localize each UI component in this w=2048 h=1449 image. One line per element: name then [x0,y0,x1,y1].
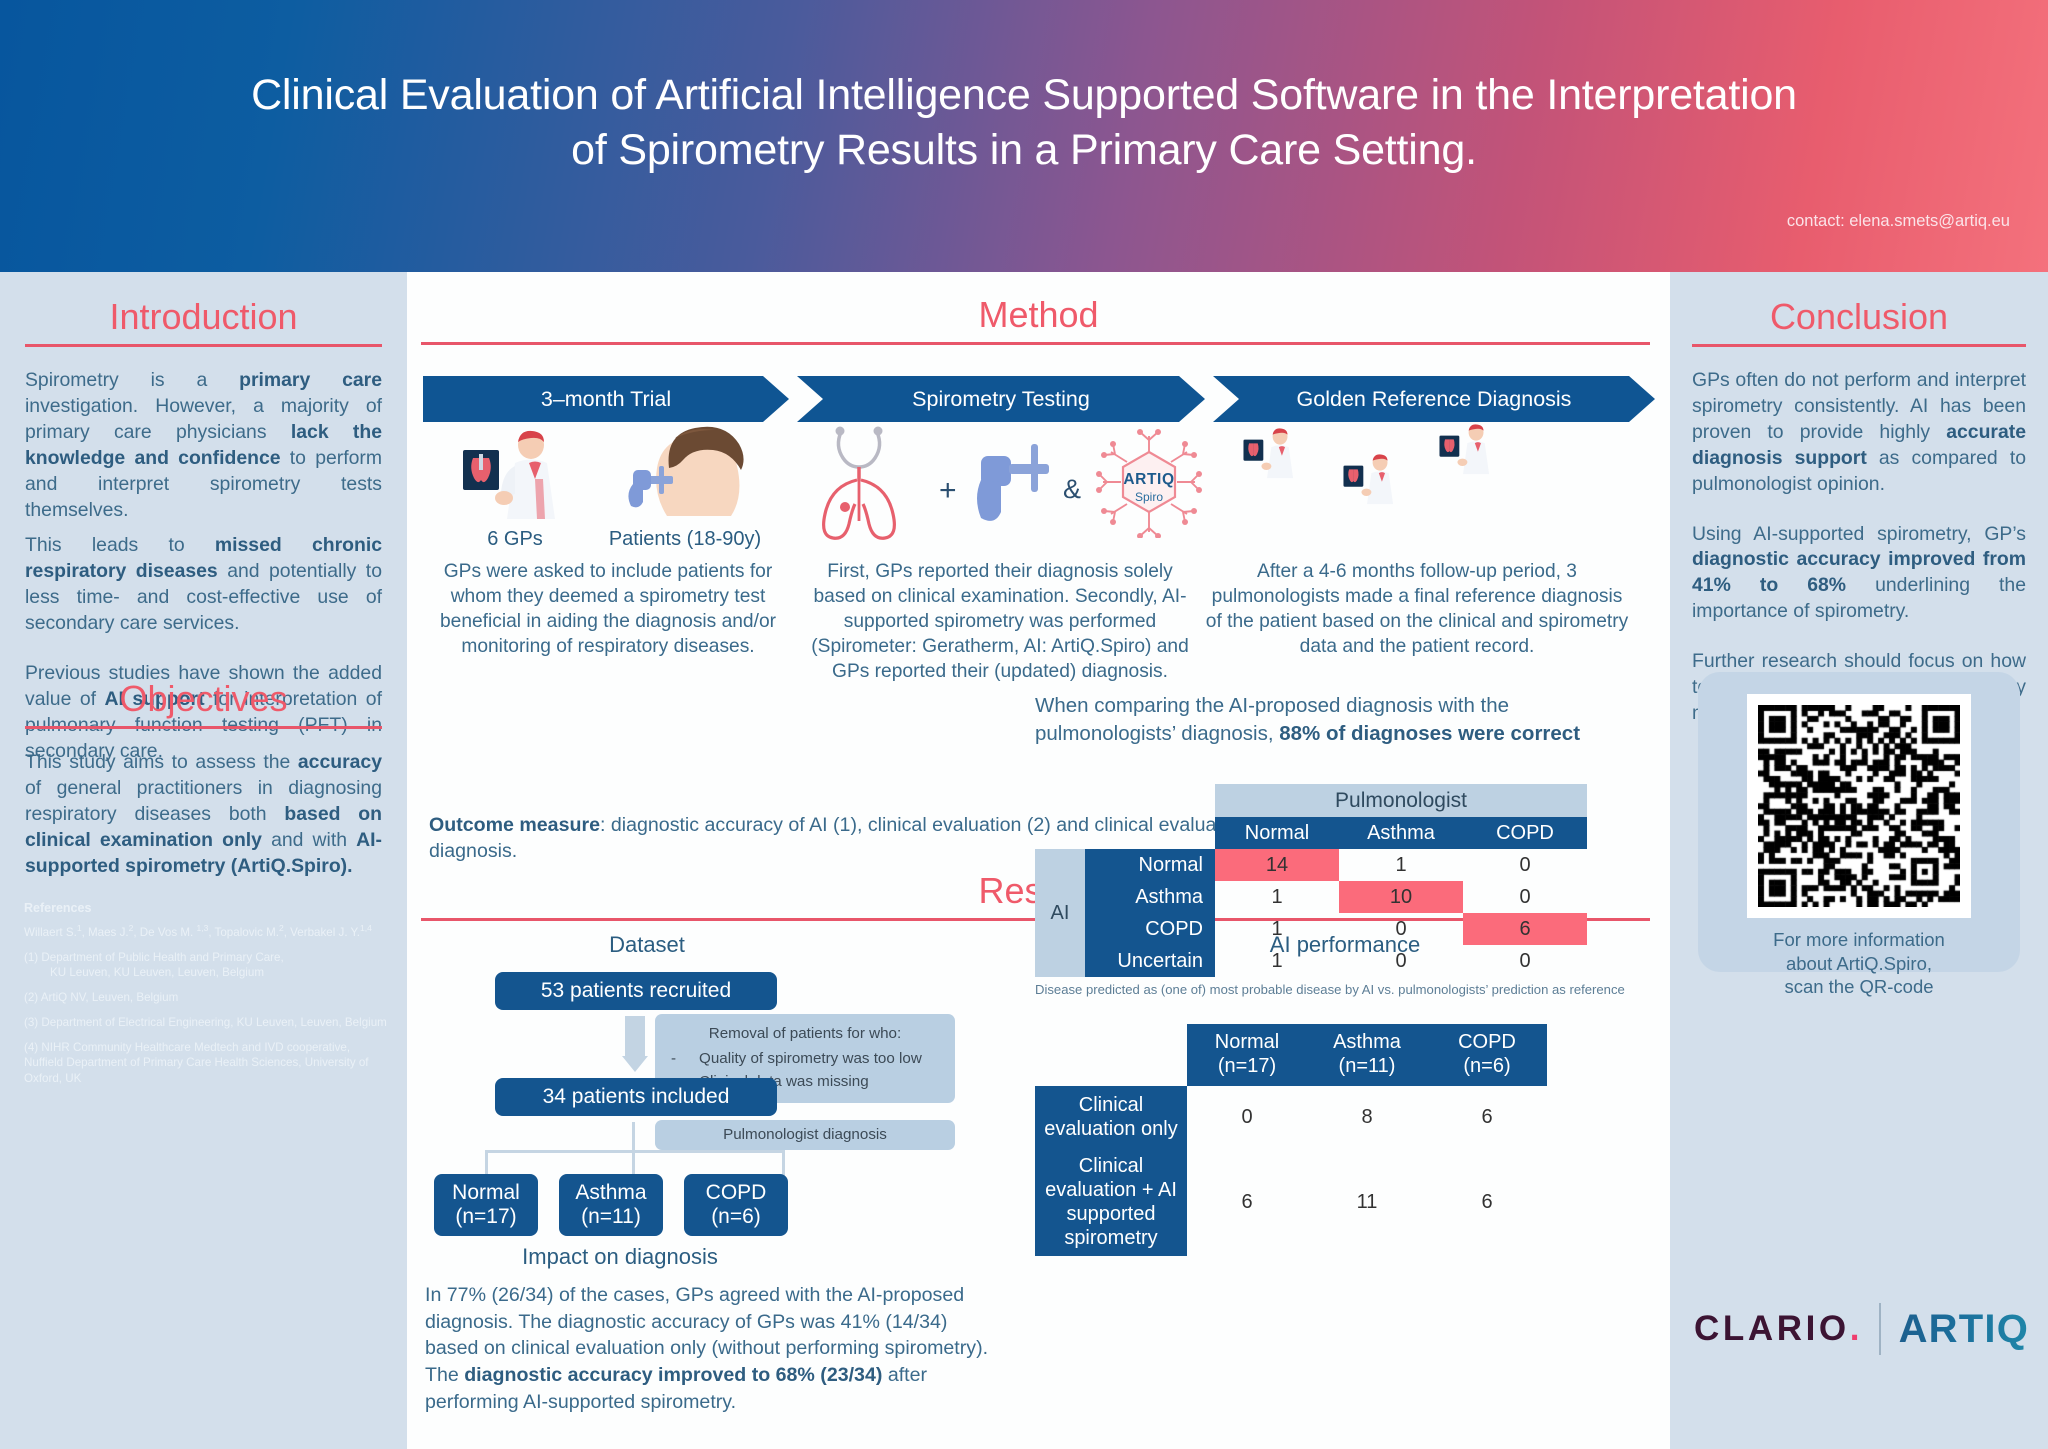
trial-illustration-group: 6 GPs Patients (18-90y) [439,428,779,552]
row-label-normal: Normal [1085,849,1215,881]
flow-box-included: 34 patients included [495,1078,777,1116]
introduction-heading-block: Introduction [25,296,382,347]
conclusion-heading-block: Conclusion [1692,296,2026,347]
affiliation-4: (4) NIHR Community Healthcare Medtech an… [24,1040,392,1087]
cell-asthma-asthma: 10 [1339,881,1463,913]
qr-code-image[interactable] [1747,694,1971,918]
step-label: Spirometry Testing [912,387,1090,412]
references-block: References Willaert S.1, Maes J.2, De Vo… [24,900,392,1096]
method-paragraph-2: First, GPs reported their diagnosis sole… [807,560,1193,685]
heading-rule [421,342,1650,345]
right-column: Conclusion GPs often do not perform and … [1670,272,2048,1449]
stethoscope-lungs-icon [811,424,931,540]
col-group-header-pulmonologist: Pulmonologist [1215,784,1587,817]
bracket-stem [632,1122,635,1152]
flow-box-recruited: 53 patients recruited [495,972,777,1010]
group-count: (n=6) [711,1205,761,1229]
contact-email: contact: elena.smets@artiq.eu [1787,212,2010,231]
cell-normal-asthma: 1 [1339,849,1463,881]
logo-divider [1879,1303,1881,1355]
group-count: (n=17) [455,1205,516,1229]
group-name: Asthma [575,1181,646,1205]
table-row-group-header: Pulmonologist [1035,784,1587,817]
column-header-normal: Normal [1215,817,1339,849]
svg-text:Spiro: Spiro [1135,490,1163,504]
header-line-1: Asthma [1307,1031,1427,1055]
evaluation-comparison-table: Normal (n=17) Asthma (n=11) COPD (n=6) C… [1035,1024,1547,1256]
references-authors: Willaert S.1, Maes J.2, De Vos M. 1,3, T… [24,923,392,941]
exclusion-item-label: Quality of spirometry was too low [699,1050,922,1067]
header-line-1: COPD [1427,1031,1547,1055]
poster-root: Clinical Evaluation of Artificial Intell… [0,0,2048,1449]
text-run-bold: diagnostic accuracy improved to 68% (23/… [464,1364,882,1386]
objectives-heading: Objectives [25,678,382,720]
cell-copd-normal: 1 [1215,913,1339,945]
flow-arrow-head-1 [622,1056,648,1072]
confusion-matrix-wrapper: Pulmonologist Normal Asthma COPD AI Norm… [1035,784,1587,977]
title-line-2: of Spirometry Results in a Primary Care … [0,123,2048,178]
header-line-1: Normal [1187,1031,1307,1055]
bracket-leg-right [782,1150,785,1176]
cell-copd-asthma: 0 [1339,913,1463,945]
cell-clinical-only-asthma: 8 [1307,1086,1427,1148]
text-run-bold: accuracy [298,751,382,773]
pulmonologist-diagnosis-box: Pulmonologist diagnosis [655,1120,955,1150]
left-column: Introduction Spirometry is a primary car… [0,272,407,1449]
corner-cell [1085,784,1215,817]
confusion-matrix-note: Disease predicted as (one of) most proba… [1035,982,1675,997]
artiq-logo: ARTIQ [1899,1307,2029,1352]
caption-line-2: about ArtiQ.Spiro, [1708,952,2010,976]
cell-uncertain-asthma: 0 [1339,945,1463,977]
bracket-leg-mid [632,1150,635,1176]
method-paragraph-1: GPs were asked to include patients for w… [425,560,791,660]
method-heading: Method [407,294,1670,336]
impact-subheading: Impact on diagnosis [425,1244,815,1270]
exclusion-title: Removal of patients for who: [667,1023,943,1046]
column-header-asthma: Asthma (n=11) [1307,1024,1427,1086]
references-title: References [24,900,392,917]
ampersand-symbol: & [1063,474,1081,505]
introduction-paragraph-2: This leads to missed chronic respiratory… [25,533,382,637]
caption-line-1: For more information [1708,928,2010,952]
objectives-body: This study aims to assess the accuracy o… [25,750,382,890]
affiliation-3: (3) Department of Electrical Engineering… [24,1015,392,1031]
header-line-2: (n=11) [1307,1055,1427,1079]
table-row: Clinical evaluation only 0 8 6 [1035,1086,1547,1148]
corner-cell [1035,1024,1187,1086]
doctor-xray-icon [459,428,569,524]
cell-normal-normal: 14 [1215,849,1339,881]
ai-performance-intro: When comparing the AI-proposed diagnosis… [1035,692,1655,748]
group-count: (n=11) [581,1205,641,1229]
svg-text:ARTIQ: ARTIQ [1123,471,1174,488]
row-label-clinical-only: Clinical evaluation only [1035,1086,1187,1148]
exclusion-item: -Quality of spirometry was too low [667,1048,943,1071]
heading-rule [25,726,382,729]
step-label: Golden Reference Diagnosis [1297,387,1572,412]
row-label-uncertain: Uncertain [1085,945,1215,977]
conclusion-paragraph-2: Using AI-supported spirometry, GP’s diag… [1692,522,2026,626]
caption-line-3: scan the QR-code [1708,975,2010,999]
confusion-matrix-table: Pulmonologist Normal Asthma COPD AI Norm… [1035,784,1587,977]
clario-dot: . [1850,1309,1863,1348]
patient-spirometer-icon [607,424,757,520]
flow-box-group-copd: COPD (n=6) [684,1174,788,1236]
artiq-spiro-logo-icon: ARTIQ Spiro [1091,426,1207,538]
bracket-crossbar [485,1150,785,1153]
impact-paragraph: In 77% (26/34) of the cases, GPs agreed … [425,1282,995,1415]
method-step-trial: 3–month Trial [423,376,789,422]
text-run-bold: primary care [239,369,382,391]
table-row-column-headers: Normal (n=17) Asthma (n=11) COPD (n=6) [1035,1024,1547,1086]
affiliation-2: (2) ArtiQ NV, Leuven, Belgium [24,990,392,1006]
header-line-2: (n=6) [1427,1055,1547,1079]
header-line-2: (n=17) [1187,1055,1307,1079]
group-name: COPD [706,1181,767,1205]
cell-clinical-only-copd: 6 [1427,1086,1547,1148]
text-run: and with [262,829,356,851]
text-run-bold: 88% of diagnoses were correct [1279,722,1580,745]
qr-code-card: For more information about ArtiQ.Spiro, … [1698,672,2020,972]
corner-cell [1085,817,1215,849]
text-run: (1) [24,951,38,964]
method-steps: 3–month Trial Spirometry Testing Golden … [423,376,1655,422]
page-title: Clinical Evaluation of Artificial Intell… [0,68,2048,178]
clario-wordmark: CLARIO [1694,1309,1850,1348]
corner-cell [1035,784,1085,817]
objectives-paragraph-1: This study aims to assess the accuracy o… [25,750,382,880]
pulmonologists-illustration-group [1207,422,1627,540]
qr-code-canvas[interactable] [1758,705,1960,907]
table-row: Uncertain 1 0 0 [1035,945,1587,977]
method-step-spirometry: Spirometry Testing [797,376,1205,422]
cell-clinical-ai-asthma: 11 [1307,1148,1427,1256]
method-paragraph-3: After a 4-6 months follow-up period, 3 p… [1203,560,1631,660]
table-row-column-headers: Normal Asthma COPD [1035,817,1587,849]
table-row: AI Normal 14 1 0 [1035,849,1587,881]
group-name: Normal [452,1181,520,1205]
bracket-leg-left [485,1150,488,1176]
middle-column: Method 3–month Trial Spirometry Testing … [407,272,1670,1449]
column-header-asthma: Asthma [1339,817,1463,849]
caption-gps: 6 GPs [445,528,585,551]
method-step-reference: Golden Reference Diagnosis [1213,376,1655,422]
row-label-asthma: Asthma [1085,881,1215,913]
column-header-copd: COPD (n=6) [1427,1024,1547,1086]
outcome-label: Outcome measure [429,814,600,836]
column-header-copd: COPD [1463,817,1587,849]
text-run: Using AI-supported spirometry, GP’s [1692,523,2026,545]
plus-symbol: + [939,474,957,508]
cell-clinical-only-normal: 0 [1187,1086,1307,1148]
poster-header: Clinical Evaluation of Artificial Intell… [0,0,2048,272]
objectives-heading-block: Objectives [25,678,382,729]
table-row: COPD 1 0 6 [1035,913,1587,945]
cell-uncertain-copd: 0 [1463,945,1587,977]
cell-copd-copd: 6 [1463,913,1587,945]
corner-cell [1035,817,1085,849]
text-run: This leads to [25,534,215,556]
clario-logo: CLARIO. [1694,1309,1863,1349]
text-run: This study aims to assess the [25,751,298,773]
cell-clinical-ai-copd: 6 [1427,1148,1547,1256]
row-label-clinical-plus-ai: Clinical evaluation + AI supported spiro… [1035,1148,1187,1256]
title-line-1: Clinical Evaluation of Artificial Intell… [0,68,2048,123]
step-label: 3–month Trial [541,387,671,412]
cell-clinical-ai-normal: 6 [1187,1148,1307,1256]
introduction-heading: Introduction [25,296,382,338]
column-header-normal: Normal (n=17) [1187,1024,1307,1086]
row-group-header-ai: AI [1035,849,1085,977]
cell-normal-copd: 0 [1463,849,1587,881]
caption-patients: Patients (18-90y) [585,528,785,551]
table-row: Clinical evaluation + AI supported spiro… [1035,1148,1547,1256]
method-heading-block: Method [407,294,1670,345]
text-run: Department of Public Health and Primary … [41,951,283,964]
conclusion-paragraph-1: GPs often do not perform and interpret s… [1692,368,2026,498]
spirometry-illustration-group: + & [811,422,1171,544]
qr-code-caption: For more information about ArtiQ.Spiro, … [1708,928,2010,999]
text-run: Spirometry is a [25,369,239,391]
heading-rule [25,344,382,347]
flow-box-group-normal: Normal (n=17) [434,1174,538,1236]
table-row: Asthma 1 10 0 [1035,881,1587,913]
cell-asthma-copd: 0 [1463,881,1587,913]
evaluation-comparison-wrapper: Normal (n=17) Asthma (n=11) COPD (n=6) C… [1035,1024,1547,1256]
text-run: KU Leuven, KU Leuven, Leuven, Belgium [24,965,392,981]
affiliation-1: (1) Department of Public Health and Prim… [24,950,392,982]
cell-asthma-normal: 1 [1215,881,1339,913]
three-pulmonologists-icon [1241,422,1541,540]
dataset-subheading: Dataset [427,932,867,958]
spirometer-device-icon [971,436,1067,528]
row-label-copd: COPD [1085,913,1215,945]
cell-uncertain-normal: 1 [1215,945,1339,977]
flow-box-group-asthma: Asthma (n=11) [559,1174,663,1236]
flow-arrow-shaft-1 [625,1016,645,1058]
heading-rule [1692,344,2026,347]
conclusion-heading: Conclusion [1692,296,2026,338]
logo-row: CLARIO. ARTIQ [1694,1296,2032,1362]
introduction-paragraph-1: Spirometry is a primary care investigati… [25,368,382,523]
